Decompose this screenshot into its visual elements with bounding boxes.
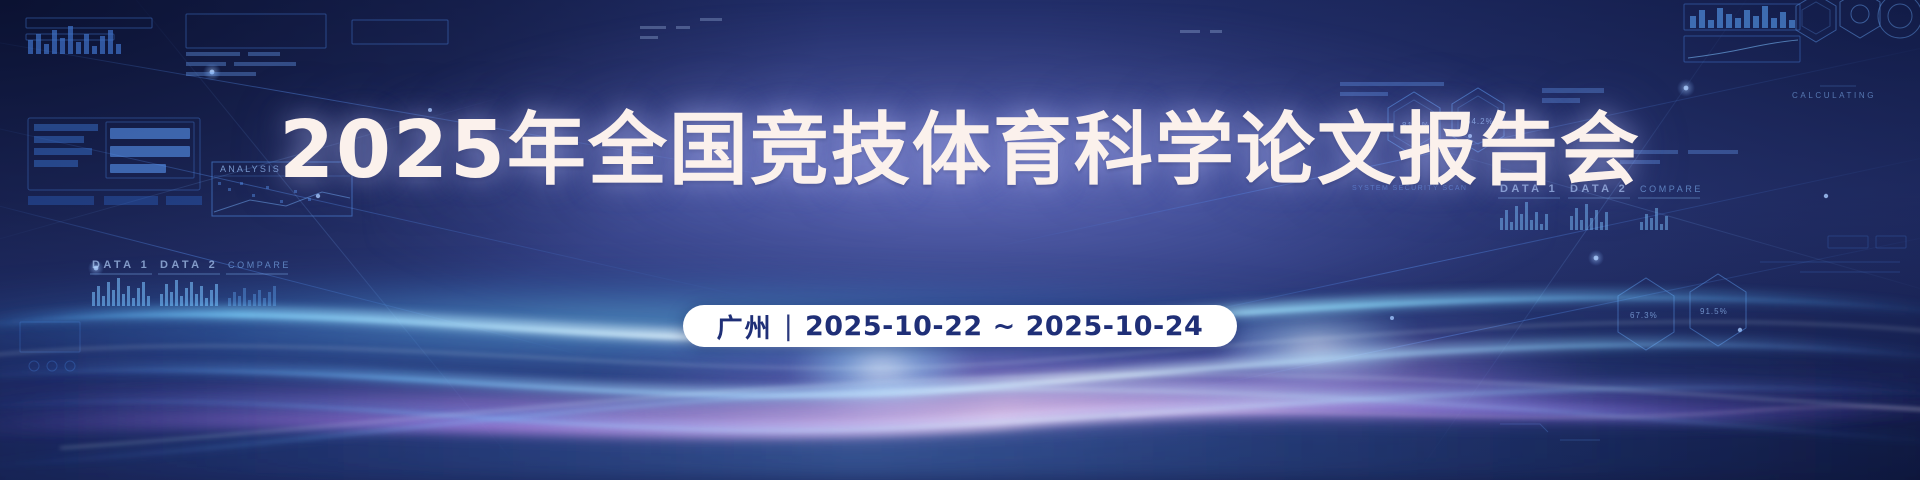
banner-title-container: 2025年全国竞技体育科学论文报告会 — [0, 110, 1920, 191]
banner-badge-container: 广州 | 2025-10-22 ~ 2025-10-24 — [0, 305, 1920, 347]
page-title: 2025年全国竞技体育科学论文报告会 — [279, 110, 1641, 191]
badge-separator: | — [784, 311, 794, 342]
conference-banner: ANALYSIS DATA 1 DATA 2 COMPARE — [0, 0, 1920, 480]
event-info-badge: 广州 | 2025-10-22 ~ 2025-10-24 — [683, 305, 1238, 347]
event-location: 广州 — [717, 308, 773, 345]
event-date-range: 2025-10-22 ~ 2025-10-24 — [805, 311, 1203, 342]
